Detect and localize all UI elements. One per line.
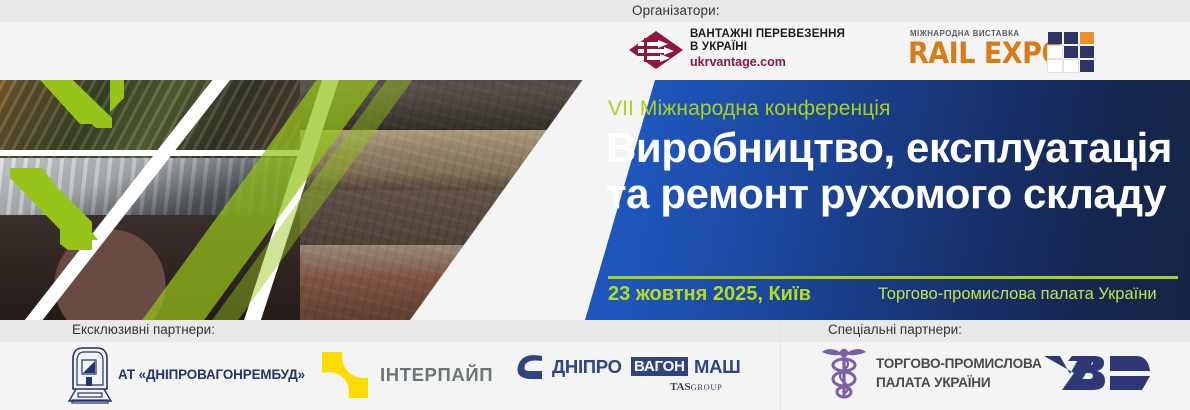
conference-banner: Організатори: ВАНТАЖНІ ПЕРЕВЕЗЕННЯ В УКР… [0,0,1190,410]
hero-venue: Торгово-промислова палата України [878,285,1157,304]
rail-expo-square-5 [1064,46,1078,58]
dniprovagonmash-part-2: ВАГОН [631,357,688,376]
uz-icon [1042,352,1152,398]
logo-interpipe[interactable]: ІНТЕРПАЙП [322,352,497,400]
organizers-label-strip [0,0,1190,22]
exclusive-partners-label: Ексклюзивні партнери: [72,322,215,337]
caduceus-icon [820,346,868,402]
logo-rail-expo[interactable]: МІЖНАРОДНА ВИСТАВКА RAIL EXPO [908,28,1103,74]
dniprovagonmash-swirl-icon [512,352,548,384]
ukrvantage-diamond-icon [628,30,684,70]
tas-text: TAS [670,381,691,393]
group-text: GROUP [691,382,723,392]
rail-expo-square-8 [1064,60,1078,72]
ukrvantage-line-2: В УКРАЇНІ [690,41,845,55]
hero-date: 23 жовтня 2025, Київ [608,283,811,306]
hero-title: Виробництво, експлуатація та ремонт рухо… [606,125,1186,217]
dniprovagonmash-subbrand: TASGROUP [670,381,722,393]
tpp-line-2: ПАЛАТА УКРАЇНИ [876,375,990,390]
dniprovagonmash-part-3: МАШ [694,356,740,378]
rail-expo-square-7 [1048,60,1062,72]
rail-expo-square-9 [1080,60,1094,72]
ukrvantage-line-1: ВАНТАЖНІ ПЕРЕВЕЗЕННЯ [690,28,845,41]
dniprovagonrembud-label: АТ «ДНІПРОВАГОНРЕМБУД» [118,367,305,382]
partners-divider [780,320,781,410]
rail-expo-square-3 [1080,32,1094,44]
rail-expo-square-1 [1048,32,1062,44]
hero-kicker: VII Міжнародна конференція [608,97,891,121]
hero-divider-rule [608,276,1178,279]
organizers-label: Організатори: [632,3,720,18]
special-partners-label: Спеціальні партнери: [828,322,962,337]
logo-dniprovagonmash[interactable]: ДНІПРО ВАГОН МАШ TASGROUP [512,350,742,402]
dniprovagonmash-part-1: ДНІПРО [552,356,622,378]
interpipe-label: ІНТЕРПАЙП [380,364,493,386]
rail-expo-square-4 [1048,46,1062,58]
logo-dniprovagonrembud[interactable]: АТ «ДНІПРОВАГОНРЕМБУД» [66,345,306,407]
rail-expo-wordmark: RAIL EXPO [908,37,1064,70]
rail-expo-square-grid [1048,32,1096,72]
wagon-icon [66,345,114,405]
rail-expo-square-2 [1064,32,1078,44]
interpipe-mark-icon [322,352,368,398]
ukrvantage-url[interactable]: ukrvantage.com [690,54,845,71]
rail-expo-square-6 [1080,46,1094,58]
logo-tpp-ukraine[interactable]: ТОРГОВО-ПРОМИСЛОВА ПАЛАТА УКРАЇНИ [820,346,1050,404]
tpp-line-1: ТОРГОВО-ПРОМИСЛОВА [876,356,1042,371]
logo-ukrzaliznytsia[interactable] [1042,352,1152,398]
logo-ukrvantage[interactable]: ВАНТАЖНІ ПЕРЕВЕЗЕННЯ В УКРАЇНІ ukrvantag… [628,28,898,72]
